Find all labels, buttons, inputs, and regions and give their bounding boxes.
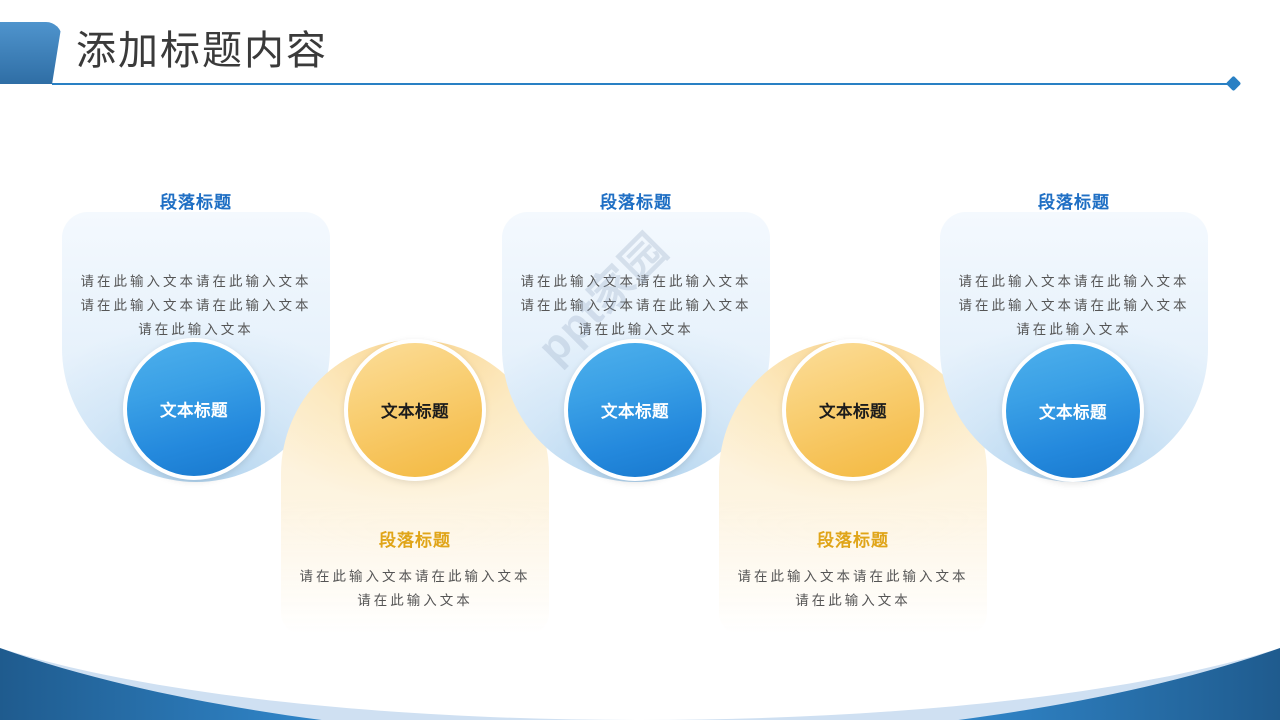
panel-4-body: 请在此输入文本请在此输入文本请在此输入文本 — [737, 565, 969, 613]
panel-1-heading: 段落标题 — [62, 188, 330, 213]
circle-badge-1[interactable]: 文本标题 — [123, 338, 265, 480]
circle-badge-4[interactable]: 文本标题 — [782, 339, 924, 481]
slide-canvas: 添加标题内容 段落标题 请在此输入文本请在此输入文本请在此输入文本请在此输入文本… — [0, 0, 1280, 720]
circle-badge-5-label: 文本标题 — [1039, 399, 1107, 423]
panel-5-body: 请在此输入文本请在此输入文本请在此输入文本请在此输入文本请在此输入文本 — [958, 270, 1190, 342]
panel-2-heading: 段落标题 — [281, 526, 549, 551]
panel-4-heading: 段落标题 — [719, 526, 987, 551]
panel-1-body: 请在此输入文本请在此输入文本请在此输入文本请在此输入文本请在此输入文本 — [80, 270, 312, 342]
header-divider-line — [52, 83, 1232, 85]
circle-badge-1-label: 文本标题 — [160, 397, 228, 421]
circle-badge-2[interactable]: 文本标题 — [344, 339, 486, 481]
circle-badge-5[interactable]: 文本标题 — [1002, 340, 1144, 482]
panel-2-body: 请在此输入文本请在此输入文本请在此输入文本 — [299, 565, 531, 613]
circle-badge-4-label: 文本标题 — [819, 398, 887, 422]
circle-badge-2-label: 文本标题 — [381, 398, 449, 422]
panel-5-heading: 段落标题 — [940, 188, 1208, 213]
header-divider-diamond-icon — [1226, 76, 1242, 92]
circle-badge-3-label: 文本标题 — [601, 398, 669, 422]
circle-badge-3[interactable]: 文本标题 — [564, 339, 706, 481]
page-title: 添加标题内容 — [76, 24, 328, 78]
panel-3-heading: 段落标题 — [502, 188, 770, 213]
bottom-wave-decoration — [0, 634, 1280, 720]
header-accent-shape — [0, 22, 62, 84]
